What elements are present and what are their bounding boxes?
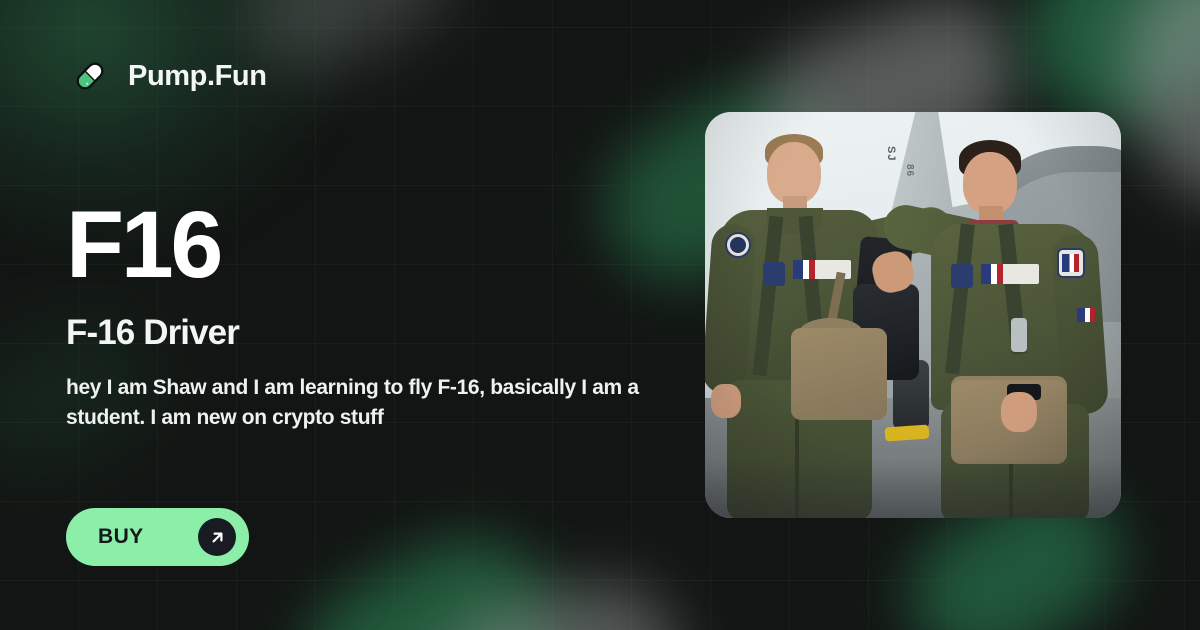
token-info: F16 F-16 Driver hey I am Shaw and I am l…: [66, 200, 666, 433]
brand-logo[interactable]: Pump.Fun: [68, 54, 267, 98]
arrow-up-right-icon: [198, 518, 236, 556]
page-content: Pump.Fun F16 F-16 Driver hey I am Shaw a…: [0, 0, 1200, 630]
token-image-card[interactable]: SJ 86: [705, 112, 1121, 518]
token-description: hey I am Shaw and I am learning to fly F…: [66, 373, 666, 433]
buy-button[interactable]: BUY: [66, 508, 249, 566]
buy-button-label: BUY: [98, 525, 144, 549]
photo-vignette: [705, 112, 1121, 518]
pill-capsule-icon: [68, 54, 112, 98]
token-symbol: F16: [66, 200, 666, 291]
token-name: F-16 Driver: [66, 313, 666, 353]
brand-name: Pump.Fun: [128, 60, 267, 93]
